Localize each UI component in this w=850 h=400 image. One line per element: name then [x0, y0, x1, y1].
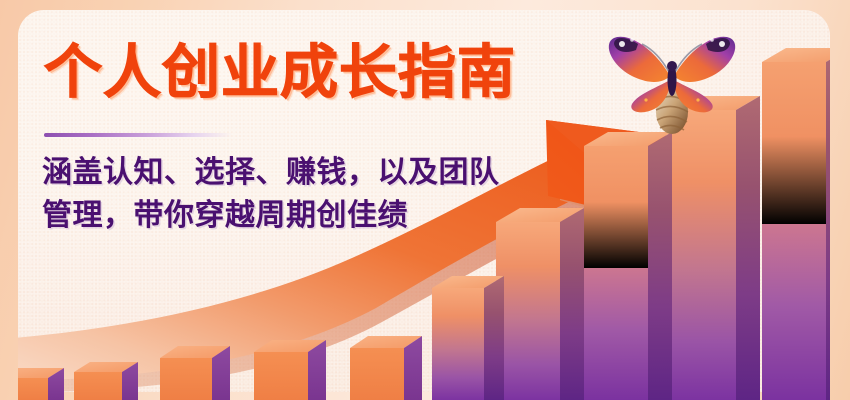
bar-10: [672, 96, 760, 400]
promo-banner: 个人创业成长指南 涵盖认知、选择、赚钱，以及团队 管理，带你穿越周期创佳绩: [0, 0, 850, 400]
title-divider: [44, 133, 232, 137]
subtitle-line-1: 涵盖认知、选择、赚钱，以及团队: [42, 152, 582, 195]
bar-3: [74, 362, 138, 400]
bar-4: [160, 346, 230, 400]
banner-title: 个人创业成长指南: [44, 44, 516, 102]
bar-7: [432, 276, 504, 400]
banner-subtitle: 涵盖认知、选择、赚钱，以及团队 管理，带你穿越周期创佳绩: [42, 152, 582, 237]
bar-5: [254, 340, 326, 400]
bar-9: [584, 132, 672, 400]
subtitle-line-2: 管理，带你穿越周期创佳绩: [42, 195, 582, 238]
bar-2: [2, 368, 64, 400]
bar-6: [350, 336, 422, 400]
bar-11: [762, 48, 850, 400]
